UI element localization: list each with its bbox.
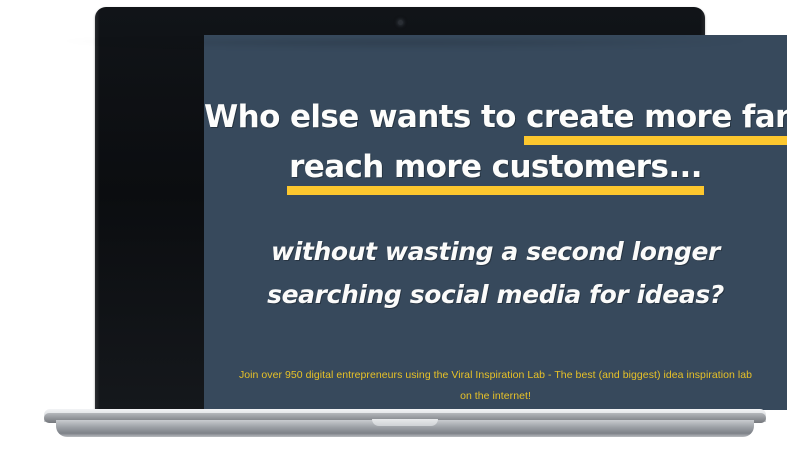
headline-prefix-text: Who else wants to	[204, 99, 526, 135]
subheadline-line-1: without wasting a second longer	[204, 230, 787, 273]
headline-line-1: Who else wants to create more fans and	[204, 92, 787, 142]
laptop-base-notch	[372, 419, 438, 426]
headline-highlight-2: reach more customers...	[289, 142, 702, 192]
hero-subheadline: without wasting a second longer searchin…	[204, 230, 787, 316]
headline-line-2: reach more customers...	[204, 142, 787, 192]
hero-headline: Who else wants to create more fans and r…	[204, 92, 787, 192]
laptop-mockup: Who else wants to create more fans and r…	[0, 0, 800, 475]
laptop-base	[44, 409, 766, 445]
subheadline-line-2: searching social media for ideas?	[204, 273, 787, 316]
headline-highlight-1: create more fans and	[526, 92, 787, 142]
hero-footnote: Join over 950 digital entrepreneurs usin…	[236, 365, 756, 407]
laptop-lid-bezel: Who else wants to create more fans and r…	[95, 7, 705, 413]
page-stage: Who else wants to create more fans and r…	[0, 0, 800, 475]
laptop-drop-shadow	[60, 40, 750, 49]
webcam-icon	[398, 20, 403, 25]
laptop-screen: Who else wants to create more fans and r…	[204, 35, 787, 410]
hero-section: Who else wants to create more fans and r…	[204, 35, 787, 410]
